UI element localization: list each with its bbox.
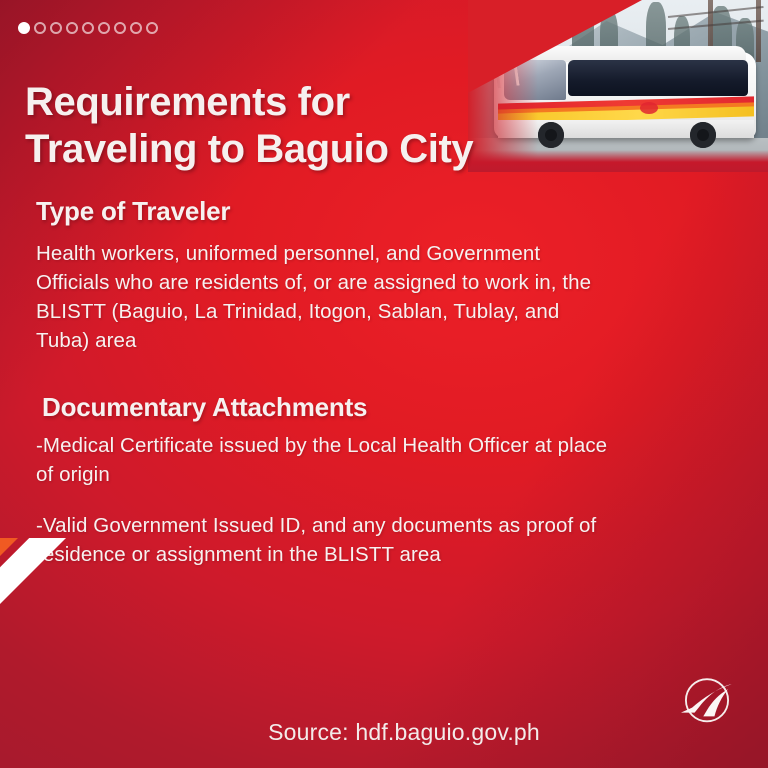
page-title: Requirements for Traveling to Baguio Cit… (25, 79, 585, 173)
page-title-line-1: Requirements for (25, 79, 585, 126)
section-heading: Documentary Attachments (42, 392, 616, 423)
bus-side-windows (568, 60, 748, 96)
source-credit: Source: hdf.baguio.gov.ph (0, 719, 768, 746)
section-heading: Type of Traveler (36, 196, 616, 227)
section-body: -Medical Certificate issued by the Local… (36, 431, 616, 569)
bus-rear-wheel (690, 122, 716, 148)
section-type-of-traveler: Type of Traveler Health workers, uniform… (36, 196, 616, 355)
section-body: Health workers, uniformed personnel, and… (36, 239, 616, 355)
pagination-dots[interactable] (18, 22, 158, 34)
pagination-dot-5[interactable] (82, 22, 94, 34)
pagination-dot-1[interactable] (18, 22, 30, 34)
pagination-dot-4[interactable] (66, 22, 78, 34)
pagination-dot-9[interactable] (146, 22, 158, 34)
pagination-dot-7[interactable] (114, 22, 126, 34)
poster-canvas: Requirements for Traveling to Baguio Cit… (0, 0, 768, 768)
section-paragraph: Health workers, uniformed personnel, and… (36, 239, 616, 355)
section-paragraph: -Valid Government Issued ID, and any doc… (36, 511, 616, 569)
bird-swoosh-circle-logo (676, 668, 738, 730)
bus-livery-badge (640, 102, 658, 114)
section-documentary-attachments: Documentary Attachments -Medical Certifi… (36, 392, 616, 569)
page-title-line-2: Traveling to Baguio City (25, 126, 585, 173)
section-paragraph: -Medical Certificate issued by the Local… (36, 431, 616, 489)
pagination-dot-6[interactable] (98, 22, 110, 34)
photo-utility-pole (756, 0, 761, 62)
pagination-dot-2[interactable] (34, 22, 46, 34)
pagination-dot-3[interactable] (50, 22, 62, 34)
pagination-dot-8[interactable] (130, 22, 142, 34)
